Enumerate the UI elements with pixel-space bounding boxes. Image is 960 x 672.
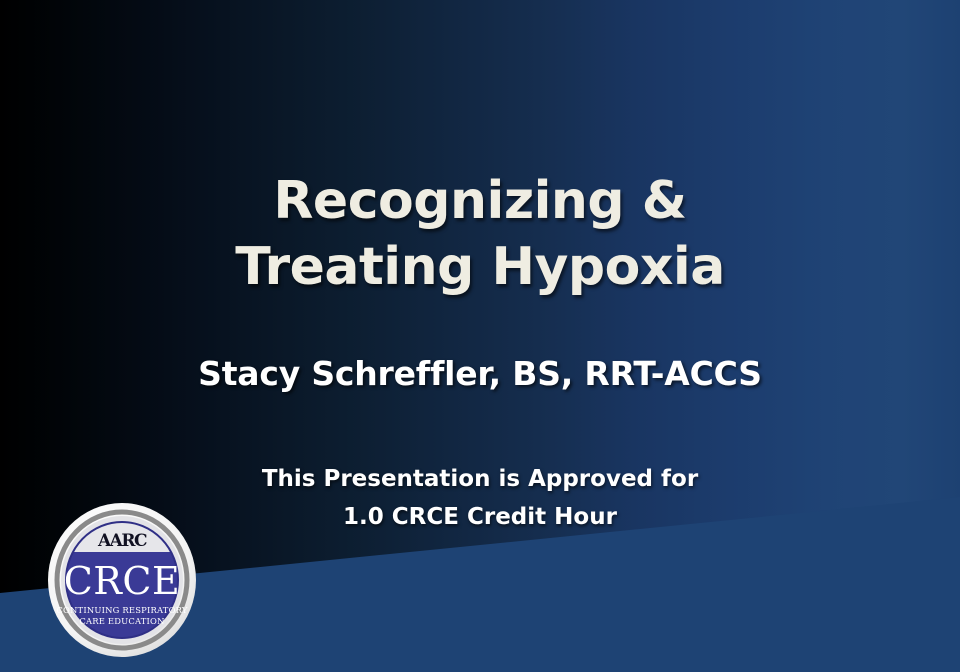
- title-line-2: Treating Hypoxia: [0, 234, 960, 300]
- logo-aarc-monogram: AARC: [97, 531, 147, 551]
- crce-logo: AARC CRCE CONTINUING RESPIRATORY CARE ED…: [44, 500, 200, 660]
- presenter-name: Stacy Schreffler, BS, RRT-ACCS: [0, 354, 960, 393]
- logo-acronym: CRCE: [64, 559, 181, 603]
- title-line-1: Recognizing &: [0, 168, 960, 234]
- logo-tagline-line-1: CONTINUING RESPIRATORY: [56, 605, 188, 615]
- presentation-slide: Recognizing & Treating Hypoxia Stacy Sch…: [0, 0, 960, 672]
- logo-tagline-line-2: CARE EDUCATION: [79, 616, 164, 626]
- page-title: Recognizing & Treating Hypoxia: [0, 168, 960, 300]
- approval-line-1: This Presentation is Approved for: [0, 460, 960, 498]
